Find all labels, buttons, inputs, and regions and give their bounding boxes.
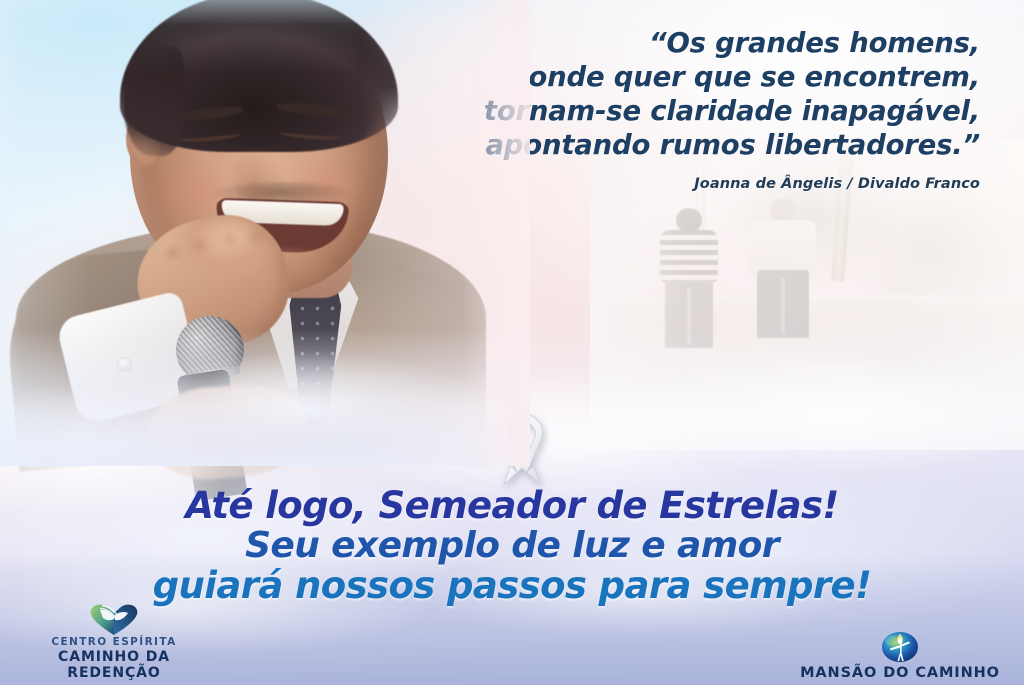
hair-side	[124, 46, 184, 156]
logo-mansao-do-caminho: MANSÃO DO CAMINHO	[790, 625, 1010, 681]
headline-line-2: Seu exemplo de luz e amor	[0, 526, 1024, 566]
logo-left-text: CENTRO ESPÍRITA CAMINHO DA REDENÇÃO	[14, 636, 214, 681]
quote-block: “Os grandes homens, onde quer que se enc…	[420, 26, 980, 192]
memorial-poster: “Os grandes homens, onde quer que se enc…	[0, 0, 1024, 685]
globe-figure-flame-icon	[877, 625, 923, 665]
quote-line-2: onde quer que se encontrem,	[420, 60, 980, 94]
headline-line-1: Até logo, Semeador de Estrelas!	[0, 486, 1024, 526]
logo-left-line-1: CENTRO ESPÍRITA	[14, 636, 214, 648]
quote-line-4: apontando rumos libertadores.”	[420, 128, 980, 162]
white-ribbon-icon	[484, 406, 560, 492]
heart-hands-icon	[88, 602, 140, 636]
quote-line-1: “Os grandes homens,	[420, 26, 980, 60]
logo-right-text: MANSÃO DO CAMINHO	[800, 665, 1000, 681]
headline-line-3: guiará nossos passos para sempre!	[0, 566, 1024, 606]
logo-right-line-1: MANSÃO DO CAMINHO	[800, 665, 1000, 681]
quote-attribution: Joanna de Ângelis / Divaldo Franco	[420, 176, 980, 192]
quote-line-3: tornam-se claridade inapagável,	[420, 94, 980, 128]
logo-centro-espirita: CENTRO ESPÍRITA CAMINHO DA REDENÇÃO	[14, 602, 214, 681]
headline-block: Até logo, Semeador de Estrelas! Seu exem…	[0, 486, 1024, 606]
logo-left-line-2: CAMINHO DA REDENÇÃO	[14, 649, 214, 681]
